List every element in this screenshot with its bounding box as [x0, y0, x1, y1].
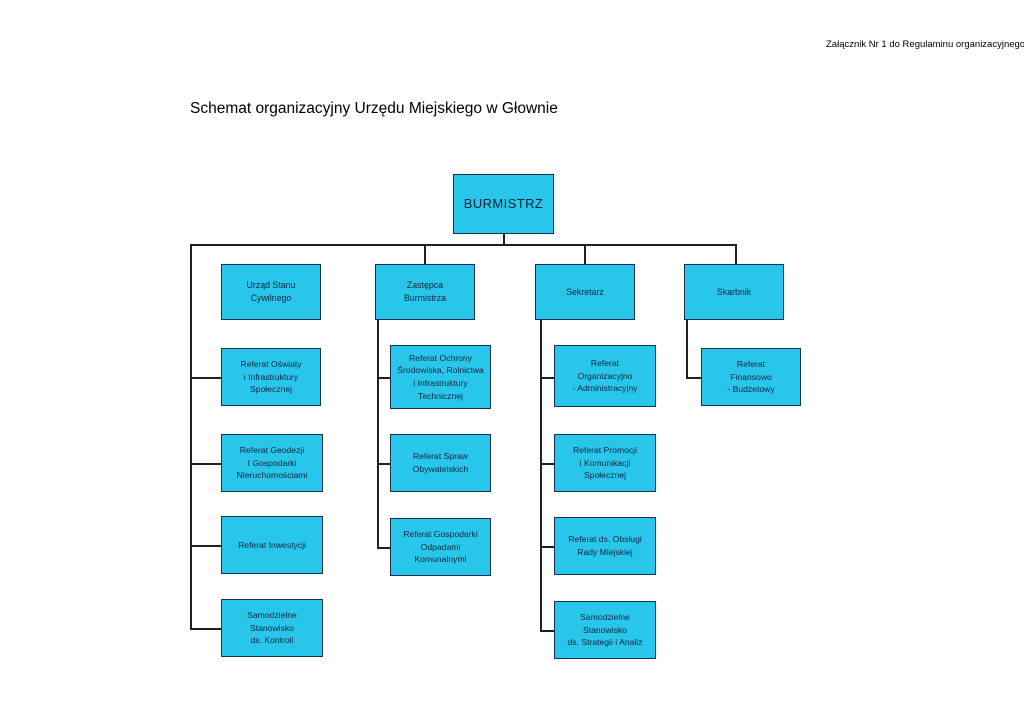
- node-referat-finansowo-budzetowy[interactable]: Referat Finansowo - Budżetowy: [701, 348, 801, 406]
- connector-col3-stub-3: [540, 546, 554, 548]
- node-zastepca-burmistrza[interactable]: Zastępca Burmistrza: [375, 264, 475, 320]
- node-referat-organizacyjno-administracyjny[interactable]: Referat Organizacyjno - Administracyjny: [554, 345, 656, 407]
- org-chart-page: Załącznik Nr 1 do Regulaminu organizacyj…: [0, 0, 1024, 724]
- connector-col2-stub-1: [377, 377, 390, 379]
- node-label: Referat Organizacyjno - Administracyjny: [573, 357, 638, 395]
- connector-col4-spine: [686, 320, 688, 378]
- node-urzad-stanu-cywilnego[interactable]: Urząd Stanu Cywilnego: [221, 264, 321, 320]
- node-label: Referat Oświaty i Infrastruktury Społecz…: [240, 358, 301, 396]
- node-samodzielne-stanowisko-kontroli[interactable]: Samodzielne Stanowisko ds. Kontroli: [221, 599, 323, 657]
- node-referat-inwestycji[interactable]: Referat Inwestycji: [221, 516, 323, 574]
- node-referat-promocji[interactable]: Referat Promocji i Komunikacji Społeczne…: [554, 434, 656, 492]
- connector-bus-drop-2: [424, 244, 426, 265]
- node-label: Referat Gospodarki Odpadami Komunalnymi: [403, 528, 478, 566]
- node-burmistrz[interactable]: BURMISTRZ: [453, 174, 554, 234]
- node-referat-geodezji[interactable]: Referat Geodezji I Gospodarki Nieruchomo…: [221, 434, 323, 492]
- node-skarbnik[interactable]: Skarbnik: [684, 264, 784, 320]
- connector-col3-stub-4: [540, 630, 554, 632]
- connector-col1-stub-2: [190, 463, 221, 465]
- node-label: BURMISTRZ: [464, 196, 543, 212]
- node-referat-gospodarki-odpadami[interactable]: Referat Gospodarki Odpadami Komunalnymi: [390, 518, 491, 576]
- node-label: Sekretarz: [566, 286, 604, 299]
- node-label: Referat Geodezji I Gospodarki Nieruchomo…: [237, 444, 308, 482]
- connector-col1-stub-3: [190, 545, 221, 547]
- node-label: Samodzielne Stanowisko ds. Strategii i A…: [568, 611, 643, 649]
- node-label: Referat Finansowo - Budżetowy: [727, 358, 774, 396]
- node-referat-spraw-obywatelskich[interactable]: Referat Spraw Obywatelskich: [390, 434, 491, 492]
- node-referat-obslugi-rady-miejskiej[interactable]: Referat ds. Obsługi Rady Miejskiej: [554, 517, 656, 575]
- connector-col2-stub-3: [377, 547, 390, 549]
- node-referat-ochrony-srodowiska[interactable]: Referat Ochrony Środowiska, Rolnictwa i …: [390, 345, 491, 409]
- connector-col1-spine: [190, 244, 192, 629]
- connector-col3-stub-2: [540, 463, 554, 465]
- node-sekretarz[interactable]: Sekretarz: [535, 264, 635, 320]
- node-referat-oswiaty[interactable]: Referat Oświaty i Infrastruktury Społecz…: [221, 348, 321, 406]
- node-label: Referat Promocji i Komunikacji Społeczne…: [573, 444, 637, 482]
- node-label: Referat Inwestycji: [238, 539, 306, 552]
- node-label: Referat Spraw Obywatelskich: [413, 450, 468, 475]
- node-label: Skarbnik: [717, 286, 751, 299]
- connector-col4-stub-1: [686, 377, 701, 379]
- header-note: Załącznik Nr 1 do Regulaminu organizacyj…: [826, 38, 1024, 51]
- connector-bus-drop-3: [584, 244, 586, 265]
- connector-col2-spine: [377, 320, 379, 548]
- connector-main-bus: [190, 244, 736, 246]
- node-label: Referat Ochrony Środowiska, Rolnictwa i …: [397, 352, 483, 402]
- node-label: Zastępca Burmistrza: [404, 279, 446, 305]
- connector-col1-stub-4: [190, 628, 221, 630]
- connector-col1-stub-1: [190, 377, 221, 379]
- node-label: Urząd Stanu Cywilnego: [247, 279, 296, 305]
- node-label: Referat ds. Obsługi Rady Miejskiej: [568, 533, 642, 558]
- connector-col3-spine: [540, 320, 542, 631]
- connector-col2-stub-2: [377, 463, 390, 465]
- connector-bus-drop-4: [735, 244, 737, 265]
- connector-col3-stub-1: [540, 377, 554, 379]
- node-label: Samodzielne Stanowisko ds. Kontroli: [247, 609, 297, 647]
- chart-title: Schemat organizacyjny Urzędu Miejskiego …: [190, 99, 558, 119]
- node-samodzielne-stanowisko-strategii[interactable]: Samodzielne Stanowisko ds. Strategii i A…: [554, 601, 656, 659]
